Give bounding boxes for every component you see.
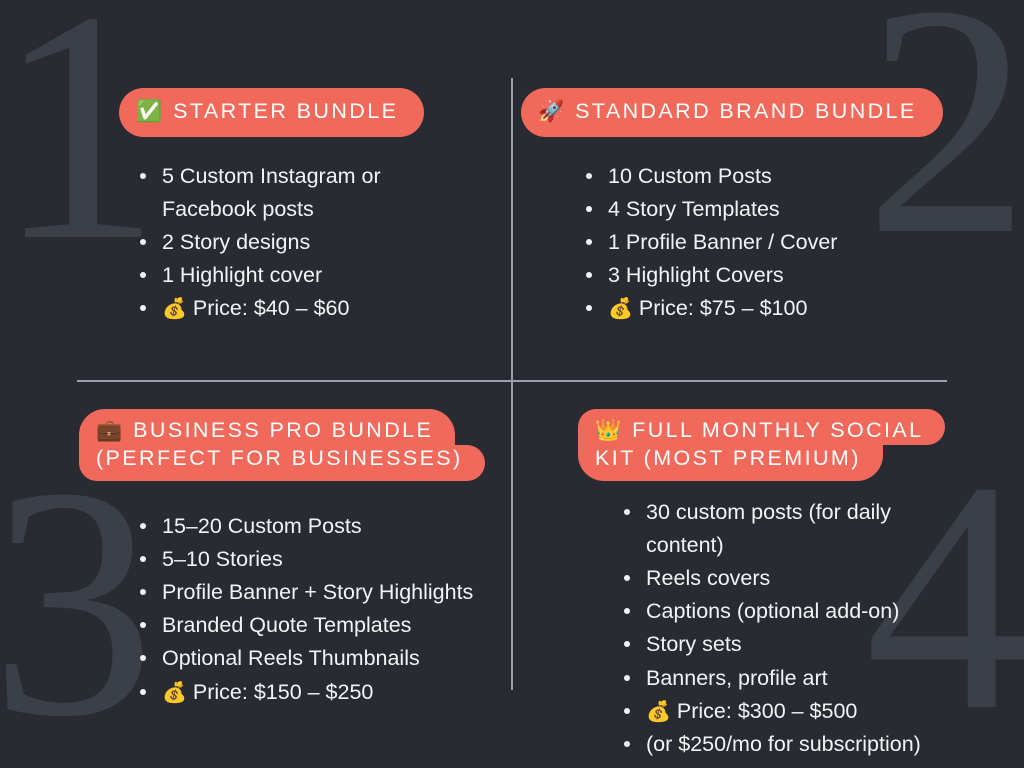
list-item: Reels covers — [620, 562, 960, 595]
list-item: 💰 Price: $40 – $60 — [136, 292, 466, 325]
starter-bundle-title-text: STARTER BUNDLE — [173, 101, 398, 123]
standard-brand-bundle-title-text: STANDARD BRAND BUNDLE — [575, 101, 917, 123]
list-item-text: 30 custom posts (for daily content) — [646, 500, 891, 557]
money-bag-icon: 💰 — [162, 682, 187, 704]
list-item: 3 Highlight Covers — [582, 259, 982, 292]
standard-brand-bundle-title-line-1: 🚀 STANDARD BRAND BUNDLE — [521, 88, 943, 137]
rocket-icon: 🚀 — [538, 101, 564, 122]
panel-starter-bundle: ✅ STARTER BUNDLE 5 Custom Instagram or F… — [0, 0, 512, 381]
business-pro-bundle-title-text-2: (PERFECT FOR BUSINESSES) — [96, 448, 463, 470]
starter-bundle-title-pill: ✅ STARTER BUNDLE — [119, 88, 424, 137]
panel-full-monthly-social-kit: 👑 FULL MONTHLY SOCIAL KIT (MOST PREMIUM)… — [512, 381, 1024, 768]
list-item: 💰 Price: $75 – $100 — [582, 292, 982, 325]
briefcase-icon: 💼 — [96, 420, 122, 441]
panel-business-pro-bundle: 💼 BUSINESS PRO BUNDLE (PERFECT FOR BUSIN… — [0, 381, 512, 768]
list-item: Story sets — [620, 628, 960, 661]
list-item-text: 1 Highlight cover — [162, 263, 322, 287]
list-item-text: Price: $40 – $60 — [193, 296, 350, 320]
list-item: 2 Story designs — [136, 226, 466, 259]
list-item: (or $250/mo for subscription) — [620, 728, 960, 761]
list-item-text: Banners, profile art — [646, 666, 828, 690]
list-item: 1 Profile Banner / Cover — [582, 226, 982, 259]
full-monthly-social-kit-title-line-1: 👑 FULL MONTHLY SOCIAL — [578, 409, 945, 445]
list-item-text: Reels covers — [646, 566, 770, 590]
full-monthly-social-kit-list: 30 custom posts (for daily content) Reel… — [620, 496, 960, 761]
list-item-text: 15–20 Custom Posts — [162, 514, 362, 538]
list-item: Optional Reels Thumbnails — [136, 642, 481, 675]
business-pro-bundle-title-line-2: (PERFECT FOR BUSINESSES) — [79, 445, 485, 482]
list-item-text: Price: $300 – $500 — [677, 699, 858, 723]
list-item: 30 custom posts (for daily content) — [620, 496, 960, 562]
list-item: 5 Custom Instagram or Facebook posts — [136, 160, 466, 226]
list-item: 4 Story Templates — [582, 193, 982, 226]
list-item-text: Price: $75 – $100 — [639, 296, 808, 320]
business-pro-bundle-list: 15–20 Custom Posts 5–10 Stories Profile … — [136, 510, 481, 709]
full-monthly-social-kit-title-line-2: KIT (MOST PREMIUM) — [578, 445, 883, 482]
list-item-text: Profile Banner + Story Highlights — [162, 580, 473, 604]
list-item: 10 Custom Posts — [582, 160, 982, 193]
money-bag-icon: 💰 — [646, 701, 671, 723]
list-item-text: Captions (optional add-on) — [646, 599, 899, 623]
full-monthly-social-kit-title-text-1: FULL MONTHLY SOCIAL — [632, 420, 923, 442]
list-item-text: Optional Reels Thumbnails — [162, 646, 420, 670]
crown-icon: 👑 — [595, 420, 621, 441]
starter-bundle-title-line-1: ✅ STARTER BUNDLE — [119, 88, 424, 137]
list-item-text: 1 Profile Banner / Cover — [608, 230, 837, 254]
bundle-grid: ✅ STARTER BUNDLE 5 Custom Instagram or F… — [0, 0, 1024, 768]
list-item-text: Branded Quote Templates — [162, 613, 411, 637]
money-bag-icon: 💰 — [162, 298, 187, 320]
panel-standard-brand-bundle: 🚀 STANDARD BRAND BUNDLE 10 Custom Posts … — [512, 0, 1024, 381]
list-item-text: Story sets — [646, 632, 742, 656]
list-item: 💰 Price: $150 – $250 — [136, 676, 481, 709]
list-item: Banners, profile art — [620, 662, 960, 695]
standard-brand-bundle-list: 10 Custom Posts 4 Story Templates 1 Prof… — [582, 160, 982, 326]
business-pro-bundle-title-text-1: BUSINESS PRO BUNDLE — [133, 420, 433, 442]
list-item-text: 2 Story designs — [162, 230, 310, 254]
list-item-text: 3 Highlight Covers — [608, 263, 784, 287]
money-bag-icon: 💰 — [608, 298, 633, 320]
list-item-text: 4 Story Templates — [608, 197, 780, 221]
list-item-text: 10 Custom Posts — [608, 164, 772, 188]
list-item: 15–20 Custom Posts — [136, 510, 481, 543]
list-item-text: 5 Custom Instagram or Facebook posts — [162, 164, 381, 221]
list-item-text: (or $250/mo for subscription) — [646, 732, 921, 756]
list-item: Profile Banner + Story Highlights — [136, 576, 481, 609]
standard-brand-bundle-title-pill: 🚀 STANDARD BRAND BUNDLE — [521, 88, 943, 137]
full-monthly-social-kit-title-text-2: KIT (MOST PREMIUM) — [595, 448, 861, 470]
starter-bundle-list: 5 Custom Instagram or Facebook posts 2 S… — [136, 160, 466, 326]
list-item: 1 Highlight cover — [136, 259, 466, 292]
list-item-text: 5–10 Stories — [162, 547, 283, 571]
business-pro-bundle-title-pill: 💼 BUSINESS PRO BUNDLE (PERFECT FOR BUSIN… — [79, 409, 485, 481]
list-item-text: Price: $150 – $250 — [193, 680, 374, 704]
full-monthly-social-kit-title-pill: 👑 FULL MONTHLY SOCIAL KIT (MOST PREMIUM) — [578, 409, 945, 481]
list-item: Branded Quote Templates — [136, 609, 481, 642]
business-pro-bundle-title-line-1: 💼 BUSINESS PRO BUNDLE — [79, 409, 455, 445]
list-item: Captions (optional add-on) — [620, 595, 960, 628]
check-mark-button-icon: ✅ — [136, 101, 162, 122]
list-item: 5–10 Stories — [136, 543, 481, 576]
list-item: 💰 Price: $300 – $500 — [620, 695, 960, 728]
